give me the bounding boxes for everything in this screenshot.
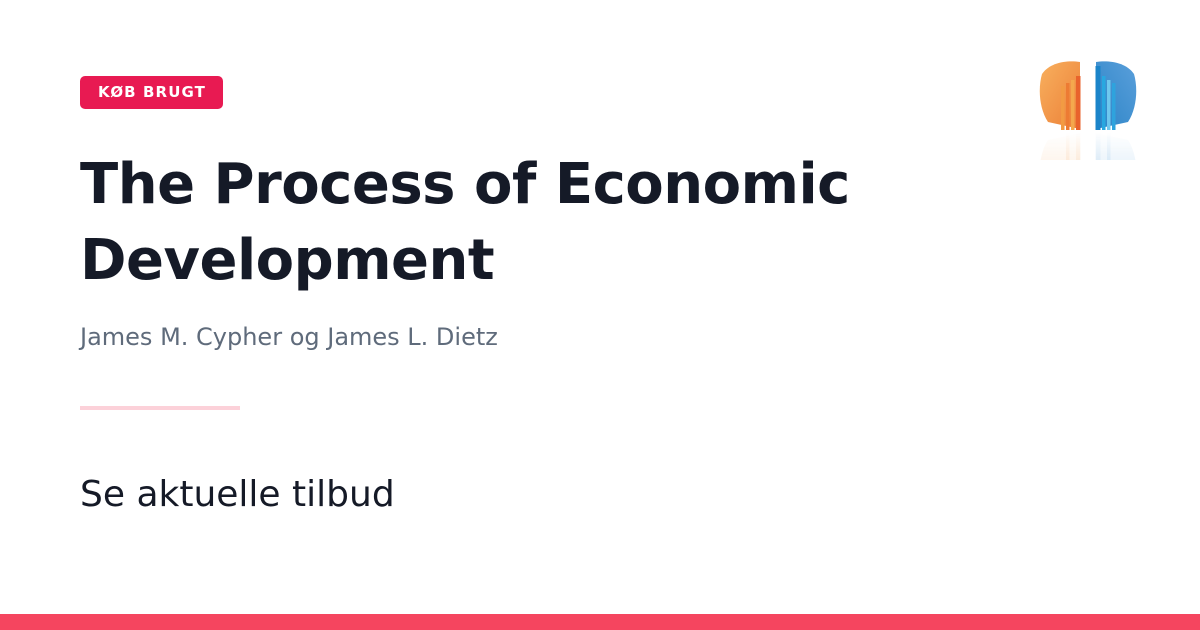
bottom-accent-bar xyxy=(0,614,1200,630)
status-badge: KØB BRUGT xyxy=(80,76,223,109)
page-title: The Process of Economic Development xyxy=(80,147,960,299)
divider xyxy=(80,406,240,410)
book-authors: James M. Cypher og James L. Dietz xyxy=(80,321,980,353)
content-column: KØB BRUGT The Process of Economic Develo… xyxy=(80,76,980,517)
share-card: KØB BRUGT The Process of Economic Develo… xyxy=(0,0,1200,630)
cta-link[interactable]: Se aktuelle tilbud xyxy=(80,473,980,517)
open-book-logo xyxy=(1034,52,1142,160)
